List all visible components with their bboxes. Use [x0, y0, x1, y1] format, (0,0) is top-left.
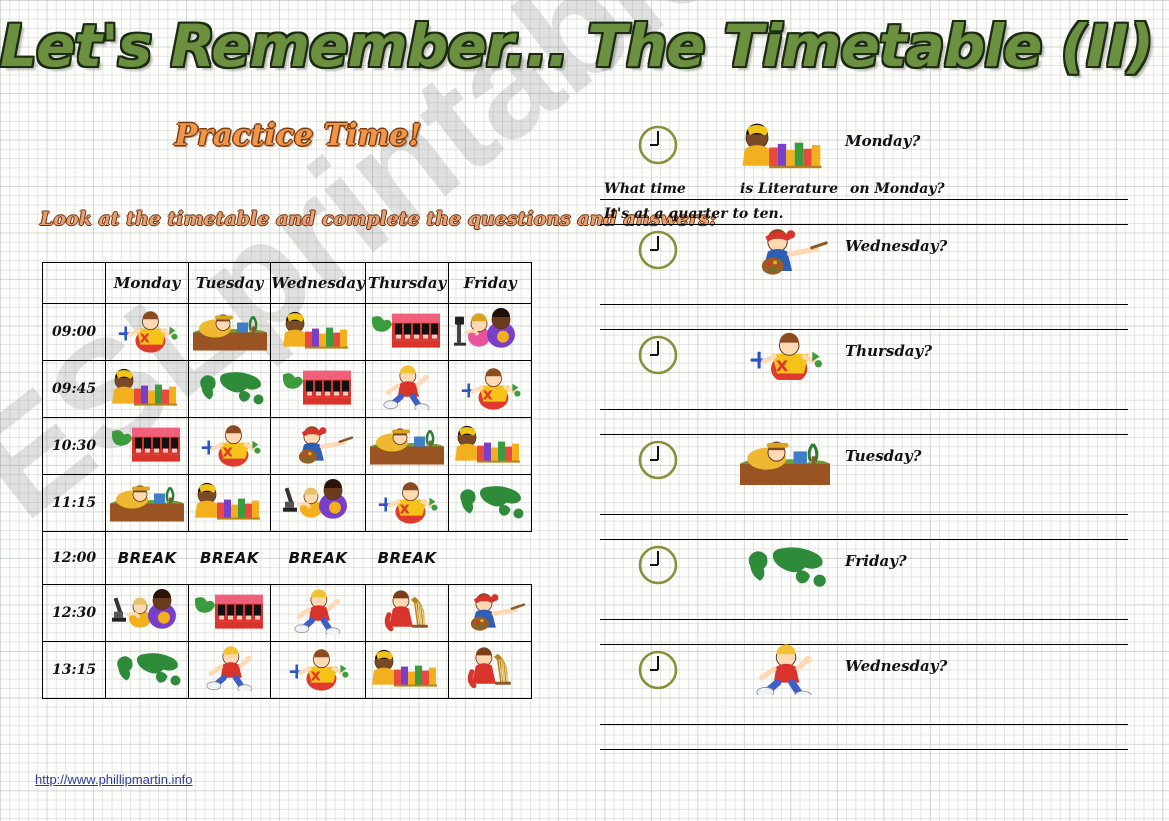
- subject-cell-literature: [271, 304, 365, 361]
- answer-line[interactable]: [600, 305, 1128, 330]
- question-segment: on Monday?: [850, 181, 945, 197]
- time-label: 09:00: [43, 304, 106, 361]
- question-block: Monday?What timeis Literatureon Monday?I…: [600, 118, 1130, 223]
- time-label: 11:15: [43, 475, 106, 532]
- clock-icon: [635, 122, 681, 168]
- day-header-tuesday: Tuesday: [188, 263, 271, 304]
- subject-cell-literature: [365, 642, 449, 699]
- question-answer-line[interactable]: What timeis Literatureon Monday?: [600, 175, 1128, 200]
- break-cell: BREAK: [365, 532, 449, 585]
- subject-cell-art: [271, 418, 365, 475]
- subject-cell-maths: + x: [271, 642, 365, 699]
- answer-line[interactable]: [600, 725, 1128, 750]
- subject-cell-pe: [365, 361, 449, 418]
- music-icon: [370, 588, 444, 634]
- subject-cell-english: [106, 418, 189, 475]
- time-label: 10:30: [43, 418, 106, 475]
- archaeology-icon: [740, 433, 830, 485]
- timetable-row: 12:00BREAKBREAKBREAKBREAK: [43, 532, 532, 585]
- timetable-row: 11:15: [43, 475, 532, 532]
- timetable-body: 09:00 + x: [43, 304, 532, 699]
- answer-line[interactable]: It's at a quarter to ten.: [600, 200, 1128, 225]
- literature-icon: [740, 118, 830, 170]
- subject-cell-literature: [188, 475, 271, 532]
- pe-icon: [740, 643, 830, 695]
- day-header-monday: Monday: [106, 263, 189, 304]
- svg-text:x: x: [310, 665, 321, 684]
- svg-text:x: x: [222, 441, 233, 460]
- timetable-row: 10:30 +: [43, 418, 532, 475]
- question-day-label: Wednesday?: [845, 657, 947, 675]
- subject-cell-geography: [106, 642, 189, 699]
- question-day-label: Thursday?: [845, 342, 932, 360]
- break-cell: BREAK: [188, 532, 271, 585]
- pe-icon: [193, 645, 267, 691]
- subject-cell-art: [449, 585, 532, 642]
- question-day-label: Wednesday?: [845, 237, 947, 255]
- question-answer-line[interactable]: [600, 700, 1128, 725]
- english-icon: [370, 307, 444, 353]
- question-day-label: Tuesday?: [845, 447, 921, 465]
- answer-line[interactable]: [600, 410, 1128, 435]
- timetable-row: 12:30: [43, 585, 532, 642]
- question-block: Friday?: [600, 538, 1130, 643]
- maths-icon: + x: [370, 478, 444, 524]
- art-icon: [740, 223, 830, 275]
- day-header-thursday: Thursday: [365, 263, 449, 304]
- literature-icon: [281, 307, 355, 353]
- literature-icon: [370, 645, 444, 691]
- question-prompt-row: Tuesday?: [600, 433, 1130, 490]
- pe-icon: [281, 588, 355, 634]
- subject-cell-english: [271, 361, 365, 418]
- clock-icon: [635, 332, 681, 378]
- maths-icon: + x: [740, 328, 830, 380]
- subject-cell-english: [365, 304, 449, 361]
- timetable-header-row: Monday Tuesday Wednesday Thursday Friday: [43, 263, 532, 304]
- clock-icon: [635, 542, 681, 588]
- answer-line[interactable]: [600, 515, 1128, 540]
- pe-icon: [370, 364, 444, 410]
- page-title: Let's Remember... The Timetable (II): [0, 12, 1100, 80]
- question-block: Tuesday?: [600, 433, 1130, 538]
- art-icon: [281, 421, 355, 467]
- svg-text:x: x: [776, 353, 789, 376]
- music-icon: [453, 645, 527, 691]
- break-cell: BREAK: [106, 532, 189, 585]
- subject-cell-pe: [271, 585, 365, 642]
- day-header-wednesday: Wednesday: [271, 263, 365, 304]
- subject-cell-pe: [188, 642, 271, 699]
- maths-icon: + x: [281, 645, 355, 691]
- question-block: Wednesday?: [600, 643, 1130, 748]
- subject-cell-literature: [449, 418, 532, 475]
- svg-text:x: x: [483, 384, 494, 403]
- subject-cell-music: [365, 585, 449, 642]
- question-day-label: Monday?: [845, 132, 920, 150]
- question-prompt-row: Wednesday?: [600, 223, 1130, 280]
- break-cell-empty: [449, 532, 532, 585]
- subject-cell-geography: [188, 361, 271, 418]
- time-label: 12:00: [43, 532, 106, 585]
- science-icon: [281, 478, 355, 524]
- timetable-row: 09:00 + x: [43, 304, 532, 361]
- geography-icon: [453, 478, 527, 524]
- archaeology-icon: [110, 478, 184, 524]
- computing-icon: [453, 307, 527, 353]
- svg-text:x: x: [400, 498, 411, 517]
- question-block: Wednesday?: [600, 223, 1130, 328]
- subject-cell-archaeology: [365, 418, 449, 475]
- time-label: 12:30: [43, 585, 106, 642]
- question-block: + x Thursday?: [600, 328, 1130, 433]
- literature-icon: [453, 421, 527, 467]
- subject-cell-literature: [106, 361, 189, 418]
- svg-text:x: x: [139, 327, 150, 346]
- question-prompt-row: Monday?: [600, 118, 1130, 175]
- art-icon: [453, 588, 527, 634]
- geography-icon: [193, 364, 267, 410]
- maths-icon: + x: [110, 307, 184, 353]
- science-icon: [110, 588, 184, 634]
- literature-icon: [110, 364, 184, 410]
- question-day-label: Friday?: [845, 552, 907, 570]
- day-header-friday: Friday: [449, 263, 532, 304]
- english-icon: [281, 364, 355, 410]
- geography-icon: [740, 538, 830, 590]
- subject-cell-maths: + x: [449, 361, 532, 418]
- subject-cell-maths: + x: [188, 418, 271, 475]
- timetable-row: 09:45: [43, 361, 532, 418]
- source-link[interactable]: http://www.phillipmartin.info: [35, 772, 193, 787]
- subject-cell-science: [271, 475, 365, 532]
- subject-cell-archaeology: [188, 304, 271, 361]
- question-prompt-row: Wednesday?: [600, 643, 1130, 700]
- archaeology-icon: [193, 307, 267, 353]
- question-segment: is Literature: [740, 181, 838, 197]
- subject-cell-archaeology: [106, 475, 189, 532]
- timetable: Monday Tuesday Wednesday Thursday Friday…: [42, 262, 532, 699]
- question-answer-line[interactable]: [600, 595, 1128, 620]
- subject-cell-music: [449, 642, 532, 699]
- literature-icon: [193, 478, 267, 524]
- geography-icon: [110, 645, 184, 691]
- timetable-corner-cell: [43, 263, 106, 304]
- break-cell: BREAK: [271, 532, 365, 585]
- english-icon: [110, 421, 184, 467]
- maths-icon: + x: [453, 364, 527, 410]
- question-segment: What time: [604, 181, 686, 197]
- maths-icon: + x: [193, 421, 267, 467]
- subject-cell-maths: + x: [106, 304, 189, 361]
- question-prompt-row: + x Thursday?: [600, 328, 1130, 385]
- answer-text: It's at a quarter to ten.: [604, 206, 784, 222]
- time-label: 13:15: [43, 642, 106, 699]
- worksheet-page: ESLprintables.com Let's Remember... The …: [0, 0, 1169, 821]
- question-answer-line[interactable]: [600, 490, 1128, 515]
- question-prompt-row: Friday?: [600, 538, 1130, 595]
- clock-icon: [635, 647, 681, 693]
- archaeology-icon: [370, 421, 444, 467]
- clock-icon: [635, 227, 681, 273]
- english-icon: [193, 588, 267, 634]
- practice-heading: Practice Time!: [118, 118, 478, 153]
- clock-icon: [635, 437, 681, 483]
- questions-panel: Monday?What timeis Literatureon Monday?I…: [600, 118, 1130, 748]
- subject-cell-maths: + x: [365, 475, 449, 532]
- timetable-row: 13:15 +: [43, 642, 532, 699]
- time-label: 09:45: [43, 361, 106, 418]
- subject-cell-computing: [449, 304, 532, 361]
- subject-cell-geography: [449, 475, 532, 532]
- question-answer-line[interactable]: [600, 385, 1128, 410]
- subject-cell-science: [106, 585, 189, 642]
- subject-cell-english: [188, 585, 271, 642]
- question-answer-line[interactable]: [600, 280, 1128, 305]
- answer-line[interactable]: [600, 620, 1128, 645]
